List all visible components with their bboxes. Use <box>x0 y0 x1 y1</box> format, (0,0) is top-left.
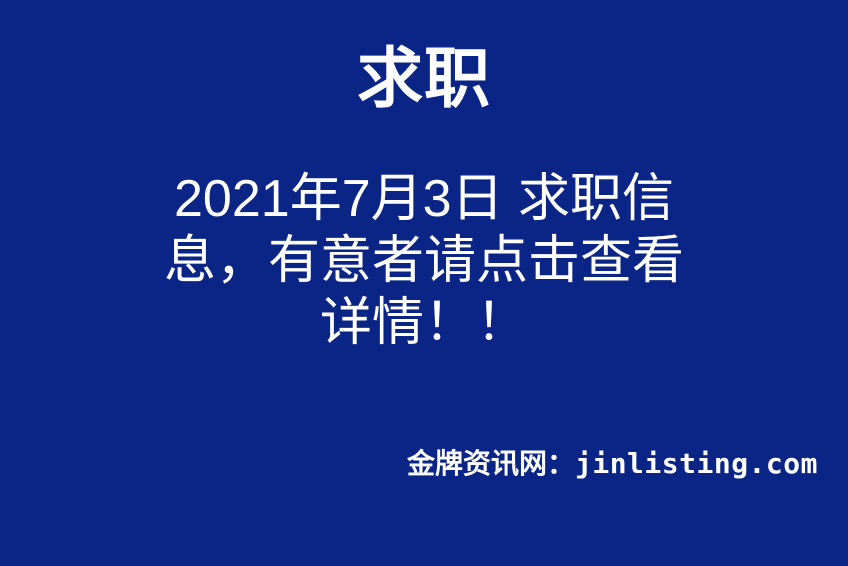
site-attribution: 金牌资讯网：jinlisting.com <box>407 446 818 482</box>
announcement-line-3: 详情！！ <box>124 292 724 354</box>
announcement-line-1: 2021年7月3日 求职信 <box>124 168 724 230</box>
site-name-label: 金牌资讯网： <box>407 448 575 479</box>
page-title: 求职 <box>0 44 848 113</box>
site-url: jinlisting.com <box>575 447 818 480</box>
announcement-line-2: 息，有意者请点击查看 <box>124 230 724 292</box>
announcement-text: 2021年7月3日 求职信 息，有意者请点击查看 详情！！ <box>124 168 724 354</box>
poster-canvas: 求职 2021年7月3日 求职信 息，有意者请点击查看 详情！！ 金牌资讯网：j… <box>0 0 848 566</box>
